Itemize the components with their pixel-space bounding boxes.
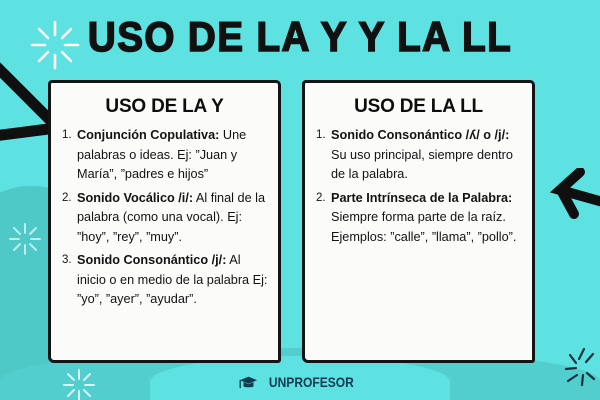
infographic-poster: USO DE LA Y Y LA LL USO DE LA Y Conjunci… bbox=[0, 0, 600, 400]
rule-body: Siempre forma parte de la raíz. Ejemplos… bbox=[331, 210, 516, 244]
rule-lead: Parte Intrínseca de la Palabra: bbox=[331, 191, 512, 205]
card-uso-de-la-ll: USO DE LA LL Sonido Consonántico /ʎ/ o /… bbox=[302, 80, 535, 363]
graduation-cap-icon bbox=[239, 375, 258, 390]
list-item: Sonido Vocálico /i/: Al final de la pala… bbox=[77, 189, 268, 248]
list-item: Conjunción Copulativa: Une palabras o id… bbox=[77, 126, 268, 185]
rule-body: Su uso principal, siempre dentro de la p… bbox=[331, 148, 513, 182]
list-item: Sonido Consonántico /ʎ/ o /j/: Su uso pr… bbox=[331, 126, 522, 185]
brand-logo: UNPROFESOR bbox=[0, 374, 600, 390]
rule-lead: Sonido Vocálico /i/: bbox=[77, 191, 193, 205]
brand-name: UNPROFESOR bbox=[269, 374, 354, 390]
rule-lead: Sonido Consonántico /j/: bbox=[77, 253, 226, 267]
rule-lead: Conjunción Copulativa: bbox=[77, 128, 219, 142]
rules-list-ll: Sonido Consonántico /ʎ/ o /j/: Su uso pr… bbox=[305, 126, 532, 247]
page-title: USO DE LA Y Y LA LL bbox=[24, 14, 576, 60]
list-item: Sonido Consonántico /j/: Al inicio o en … bbox=[77, 251, 268, 310]
list-item: Parte Intrínseca de la Palabra: Siempre … bbox=[331, 189, 522, 248]
card-heading-y: USO DE LA Y bbox=[57, 96, 272, 118]
card-heading-ll: USO DE LA LL bbox=[311, 96, 526, 118]
rules-list-y: Conjunción Copulativa: Une palabras o id… bbox=[51, 126, 278, 310]
card-uso-de-la-y: USO DE LA Y Conjunción Copulativa: Une p… bbox=[48, 80, 281, 363]
rule-lead: Sonido Consonántico /ʎ/ o /j/: bbox=[331, 128, 509, 142]
